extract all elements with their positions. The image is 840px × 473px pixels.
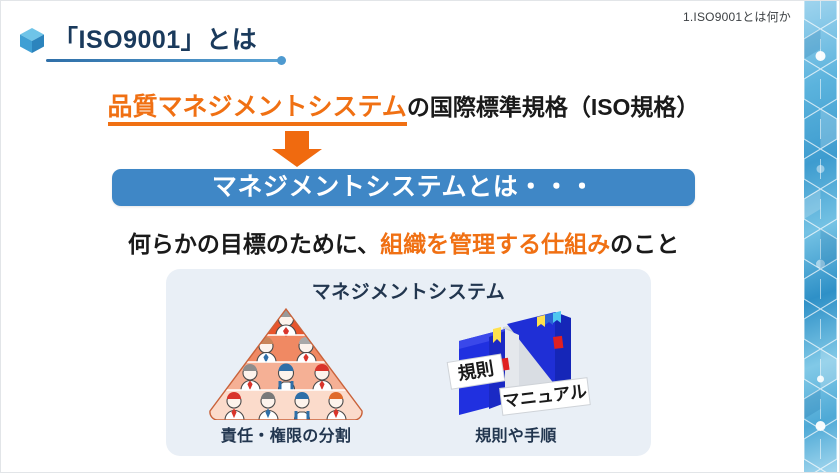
title-underline — [46, 59, 281, 62]
headline-highlight: 品質マネジメントシステム — [108, 93, 407, 126]
subheadline-suffix: のこと — [610, 231, 679, 257]
headline-definition: 品質マネジメントシステムの国際標準規格（ISO規格） — [1, 87, 806, 123]
page-title-text: 「ISO9001」とは — [53, 28, 257, 53]
subheadline-definition: 何らかの目標のために、組織を管理する仕組みのこと — [1, 225, 806, 259]
caption-rules: 規則や手順 — [416, 422, 616, 446]
panel-column-rules: 規則 マニュアル 規則や手順 — [416, 307, 616, 452]
title-underline-dot — [277, 56, 286, 65]
banner-label: マネジメントシステムとは・・・ — [212, 175, 595, 200]
cube-icon — [17, 25, 47, 55]
subheadline-highlight: 組織を管理する仕組み — [380, 231, 610, 257]
section-note: 1.ISO9001とは何か — [683, 8, 791, 25]
page-title: 「ISO9001」とは — [17, 25, 257, 55]
management-system-panel: マネジメントシステム — [166, 269, 651, 456]
arrow-down-icon — [271, 131, 323, 167]
slide: 1.ISO9001とは何か 「ISO9001」とは 品質マネジメントシステムの国… — [0, 0, 840, 473]
panel-title: マネジメントシステム — [166, 277, 651, 304]
panel-column-responsibility: 責任・権限の分割 — [186, 307, 386, 452]
pyramid-people-illustration — [186, 307, 386, 420]
books-illustration: 規則 マニュアル — [416, 307, 616, 420]
hexagon-pattern-strip — [804, 1, 837, 473]
caption-responsibility: 責任・権限の分割 — [186, 422, 386, 446]
headline-rest: の国際標準規格（ISO規格） — [407, 94, 700, 120]
subheadline-prefix: 何らかの目標のために、 — [128, 231, 380, 257]
banner-management-system: マネジメントシステムとは・・・ — [112, 169, 695, 206]
